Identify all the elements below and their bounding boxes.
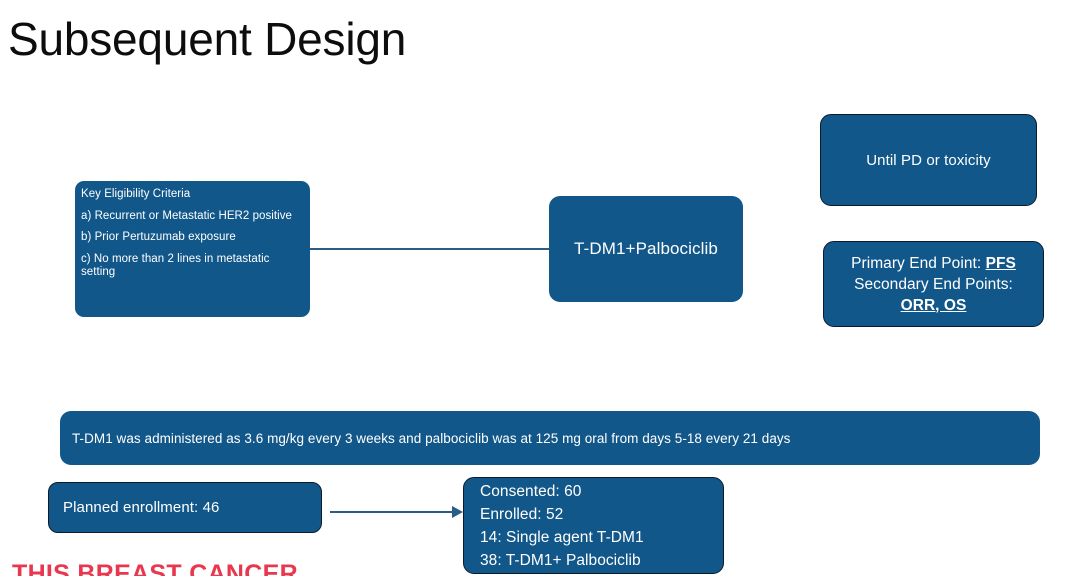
primary-endpoint-line: Primary End Point: PFS: [851, 253, 1016, 274]
dosing-banner: T-DM1 was administered as 3.6 mg/kg ever…: [60, 411, 1040, 465]
slide-canvas: Subsequent Design Key Eligibility Criter…: [0, 0, 1080, 576]
endpoints-box: Primary End Point: PFS Secondary End Poi…: [823, 241, 1044, 327]
eligibility-heading: Key Eligibility Criteria: [81, 188, 304, 202]
accrual-line-single-agent: 14: Single agent T-DM1: [480, 526, 723, 549]
criteria-to-treatment-connector: [310, 248, 550, 250]
treatment-arm-label: T-DM1+Palbociclib: [574, 239, 718, 259]
primary-endpoint-value: PFS: [986, 255, 1016, 272]
eligibility-criterion-c: c) No more than 2 lines in metastatic se…: [81, 253, 304, 280]
page-title: Subsequent Design: [8, 14, 406, 65]
treatment-duration-label: Until PD or toxicity: [866, 152, 991, 169]
arrow-right-icon: [452, 506, 463, 518]
treatment-arm-box: T-DM1+Palbociclib: [549, 196, 743, 302]
planned-enrollment-box: Planned enrollment: 46: [48, 482, 322, 533]
enrollment-to-accrual-connector: [330, 511, 455, 513]
accrual-line-combination: 38: T-DM1+ Palbociclib: [480, 549, 723, 572]
accrual-line-enrolled: Enrolled: 52: [480, 503, 723, 526]
eligibility-criterion-a: a) Recurrent or Metastatic HER2 positive: [81, 210, 304, 224]
eligibility-criteria-box: Key Eligibility Criteria a) Recurrent or…: [75, 181, 310, 317]
accrual-summary-box: Consented: 60 Enrolled: 52 14: Single ag…: [463, 477, 724, 574]
treatment-duration-box: Until PD or toxicity: [820, 114, 1037, 206]
secondary-endpoint-value: ORR, OS: [901, 295, 967, 316]
footer-clipped-heading: THIS BREAST CANCER: [12, 562, 372, 576]
dosing-banner-text: T-DM1 was administered as 3.6 mg/kg ever…: [72, 431, 1040, 446]
secondary-endpoint-prefix: Secondary End Points:: [854, 274, 1013, 295]
primary-endpoint-prefix: Primary End Point:: [851, 255, 985, 272]
eligibility-criterion-b: b) Prior Pertuzumab exposure: [81, 231, 304, 245]
planned-enrollment-label: Planned enrollment: 46: [63, 499, 321, 516]
accrual-line-consented: Consented: 60: [480, 480, 723, 503]
